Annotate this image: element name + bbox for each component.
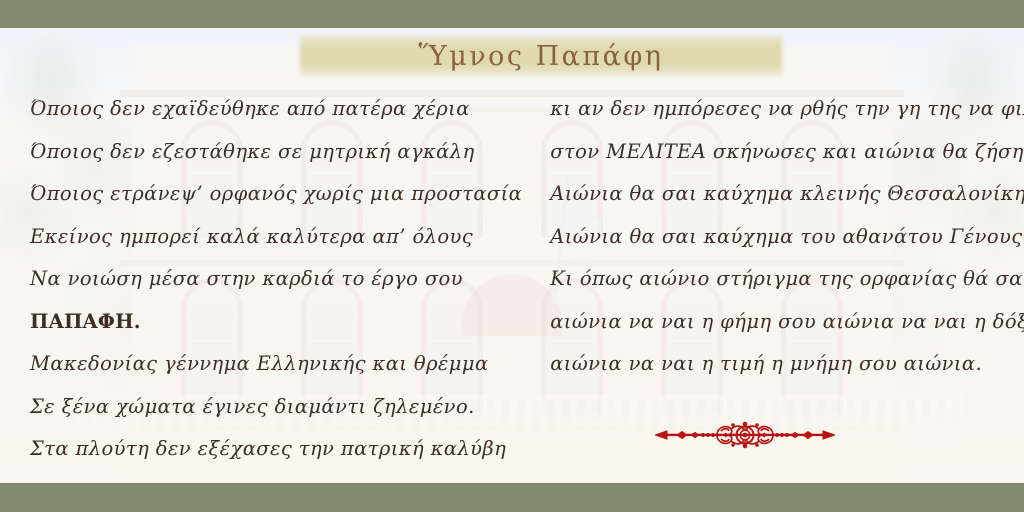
poem-line: αιώνια να ναι η φήμη σου αιώνια να ναι η… [550, 301, 1024, 344]
poem-line: κι αν δεν ημπόρεσες να ρθής την γη της ν… [550, 88, 1024, 131]
poem-left-column: Όποιος δεν εχαϊδεύθηκε από πατέρα χέρια … [0, 88, 536, 478]
poem-line: Αιώνια θα σαι καύχημα του αθανάτου Γένου… [550, 216, 1024, 259]
poem-line: στον ΜΕΛΙΤΕΑ σκήνωσες και αιώνια θα ζήση… [550, 131, 1024, 174]
poem-line: αιώνια να ναι η τιμή η μνήμη σου αιώνια. [550, 343, 1024, 386]
poem-line: Όποιος ετράνεψ’ ορφανός χωρίς μια προστα… [30, 173, 522, 216]
poem-line: Στα πλούτη δεν εξέχασες την πατρική καλύ… [30, 428, 522, 471]
page-title: Ὕμνος Παπάφη [300, 36, 782, 76]
poem-line: Όποιος δεν εχαϊδεύθηκε από πατέρα χέρια [30, 88, 522, 131]
red-filigree-flourish-icon [655, 418, 835, 452]
poem-line: Σε ξένα χώματα έγινες διαμάντι ζηλεμένο. [30, 386, 522, 429]
top-band [0, 0, 1024, 28]
poem-line: ΠΑΠΑΦΗ. [30, 301, 522, 344]
poem-line: Κι όπως αιώνιο στήριγμα της ορφανίας θά … [550, 258, 1024, 301]
poem-line: Να νοιώση μέσα στην καρδιά το έργο σου [30, 258, 522, 301]
poem-line: Εκείνος ημπορεί καλά καλύτερα απ’ όλους [30, 216, 522, 259]
poem-line: Αιώνια θα σαι καύχημα κλεινής Θεσσαλονίκ… [550, 173, 1024, 216]
slide: Ὕμνος Παπάφη Όποιος δεν εχαϊδεύθηκε από … [0, 0, 1024, 512]
poem-line: Μακεδονίας γέννημα Ελληνικής και θρέμμα [30, 343, 522, 386]
poem-body: Όποιος δεν εχαϊδεύθηκε από πατέρα χέρια … [0, 88, 1024, 478]
poem-line: Όποιος δεν εζεστάθηκε σε μητρική αγκάλη [30, 131, 522, 174]
bottom-band [0, 483, 1024, 512]
